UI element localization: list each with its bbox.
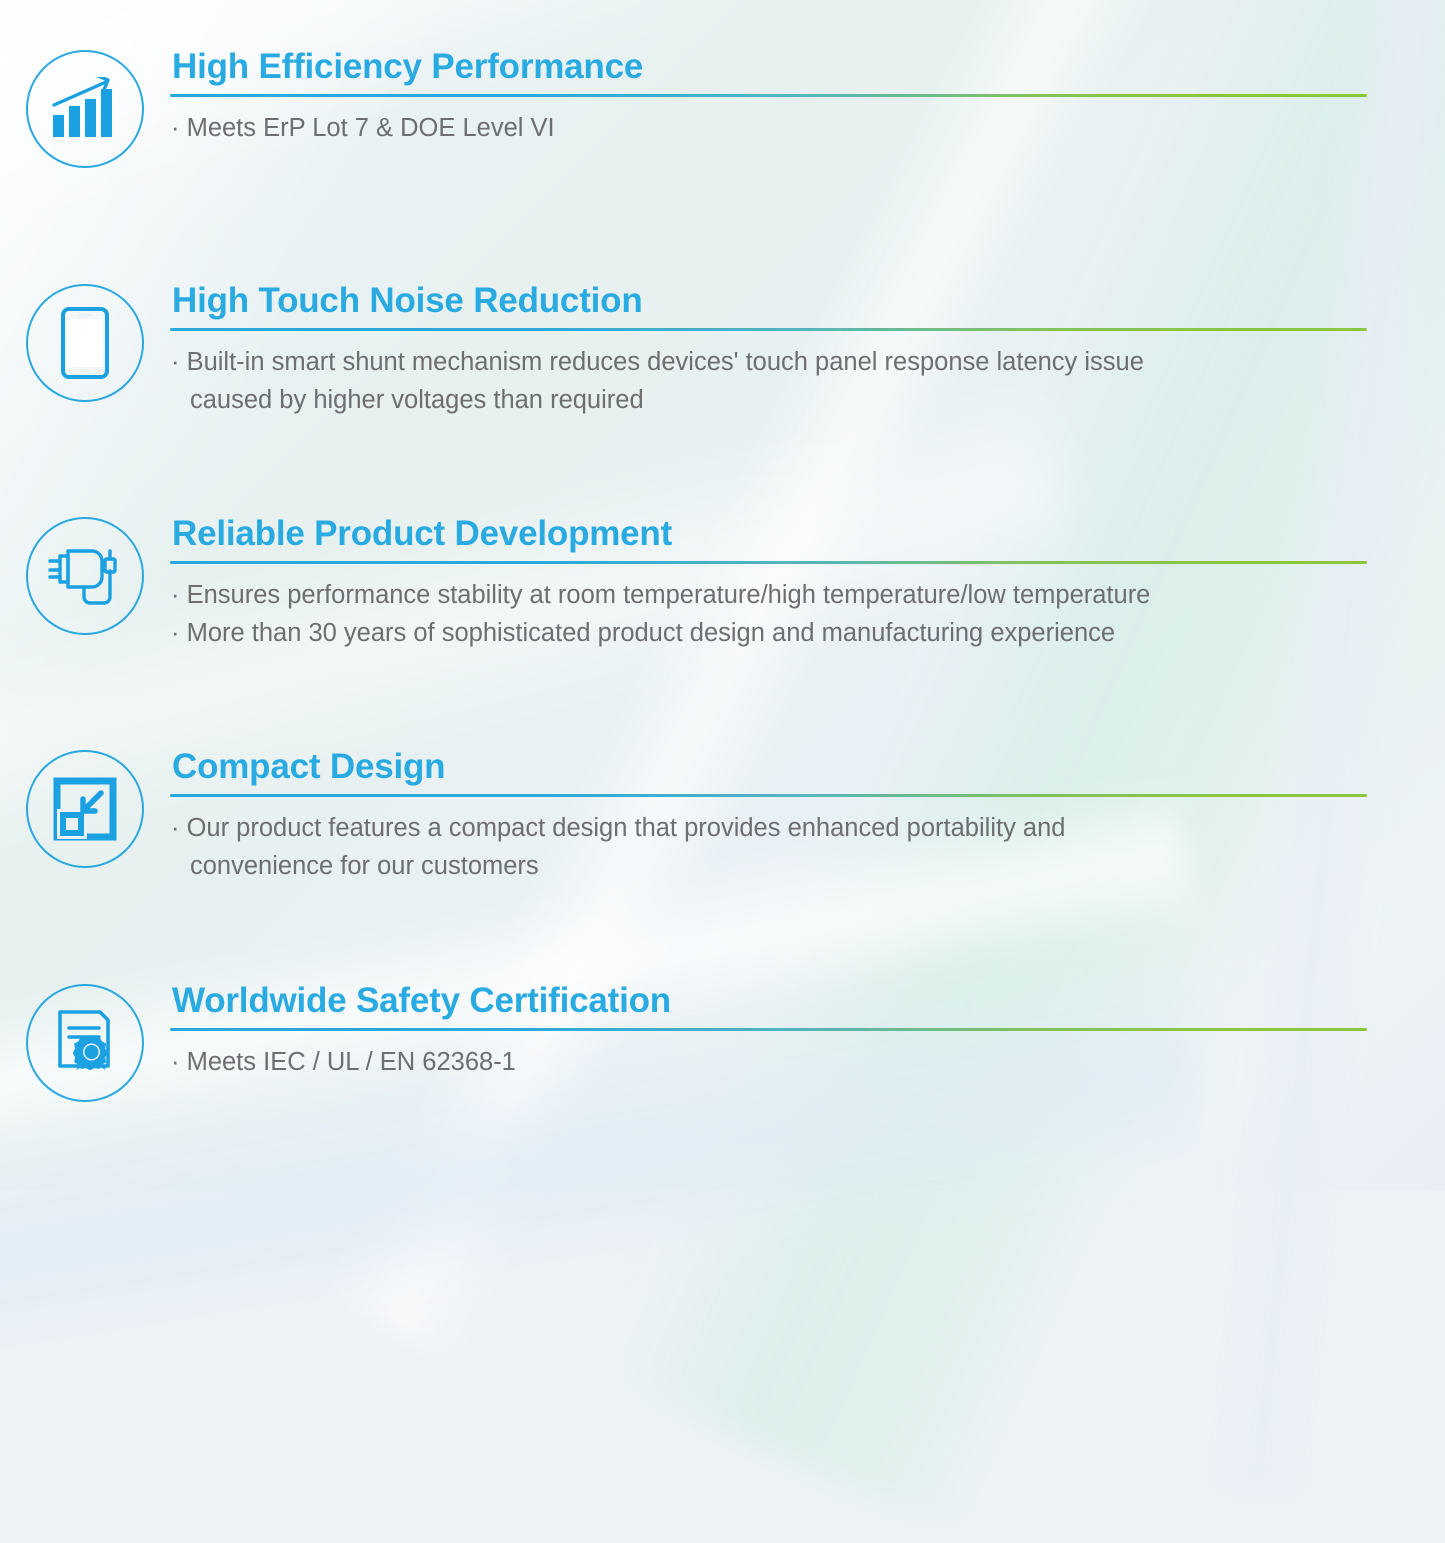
power-adapter-icon <box>26 517 144 635</box>
feature-item-high-efficiency-performance: High Efficiency Performance · Meets ErP … <box>0 48 1445 168</box>
bullet-marker: · <box>171 619 187 647</box>
bullet-text: Meets IEC / UL / EN 62368-1 <box>187 1048 516 1076</box>
feature-divider <box>170 561 1367 564</box>
feature-heading: Reliable Product Development <box>170 515 1367 561</box>
feature-item-compact-design: Compact Design · Our product features a … <box>0 748 1445 886</box>
feature-bullet: · Built-in smart shunt mechanism reduces… <box>170 344 1367 382</box>
feature-text-block: Compact Design · Our product features a … <box>170 748 1445 886</box>
bullet-text: Ensures performance stability at room te… <box>187 581 1151 609</box>
bullet-marker: · <box>171 348 187 376</box>
smartphone-icon <box>26 284 144 402</box>
bullet-text: Meets ErP Lot 7 & DOE Level VI <box>187 114 555 142</box>
feature-text-block: High Touch Noise Reduction · Built-in sm… <box>170 282 1445 420</box>
feature-item-worldwide-safety-certification: Worldwide Safety Certification · Meets I… <box>0 982 1445 1102</box>
bullet-text-continuation: caused by higher voltages than required <box>170 382 1367 420</box>
feature-heading: Compact Design <box>170 748 1367 794</box>
bullet-text-continuation: convenience for our customers <box>170 848 1367 886</box>
bullet-text: Our product features a compact design th… <box>187 814 1066 842</box>
feature-icon-wrap <box>0 982 170 1102</box>
feature-bullet: · Our product features a compact design … <box>170 810 1367 848</box>
feature-heading: High Touch Noise Reduction <box>170 282 1367 328</box>
feature-text-block: Reliable Product Development · Ensures p… <box>170 515 1445 653</box>
feature-bullet: · Meets IEC / UL / EN 62368-1 <box>170 1044 1367 1082</box>
bullet-text: More than 30 years of sophisticated prod… <box>187 619 1115 647</box>
bar-chart-growth-icon <box>26 50 144 168</box>
feature-heading: Worldwide Safety Certification <box>170 982 1367 1028</box>
feature-divider <box>170 328 1367 331</box>
feature-heading: High Efficiency Performance <box>170 48 1367 94</box>
feature-text-block: Worldwide Safety Certification · Meets I… <box>170 982 1445 1082</box>
compact-resize-icon <box>26 750 144 868</box>
feature-divider <box>170 94 1367 97</box>
feature-list: High Efficiency Performance · Meets ErP … <box>0 0 1445 1190</box>
bullet-text: Built-in smart shunt mechanism reduces d… <box>187 348 1144 376</box>
feature-item-high-touch-noise-reduction: High Touch Noise Reduction · Built-in sm… <box>0 282 1445 420</box>
feature-bullet: · More than 30 years of sophisticated pr… <box>170 615 1367 653</box>
bullet-marker: · <box>171 581 187 609</box>
bullet-marker: · <box>171 1048 187 1076</box>
feature-icon-wrap <box>0 282 170 402</box>
feature-item-reliable-product-development: Reliable Product Development · Ensures p… <box>0 515 1445 653</box>
feature-icon-wrap <box>0 748 170 868</box>
feature-icon-wrap <box>0 515 170 635</box>
feature-text-block: High Efficiency Performance · Meets ErP … <box>170 48 1445 148</box>
bullet-marker: · <box>171 114 187 142</box>
feature-bullet: · Ensures performance stability at room … <box>170 577 1367 615</box>
bullet-marker: · <box>171 814 187 842</box>
certificate-seal-icon <box>26 984 144 1102</box>
feature-divider <box>170 794 1367 797</box>
feature-icon-wrap <box>0 48 170 168</box>
feature-bullet: · Meets ErP Lot 7 & DOE Level VI <box>170 110 1367 148</box>
feature-divider <box>170 1028 1367 1031</box>
